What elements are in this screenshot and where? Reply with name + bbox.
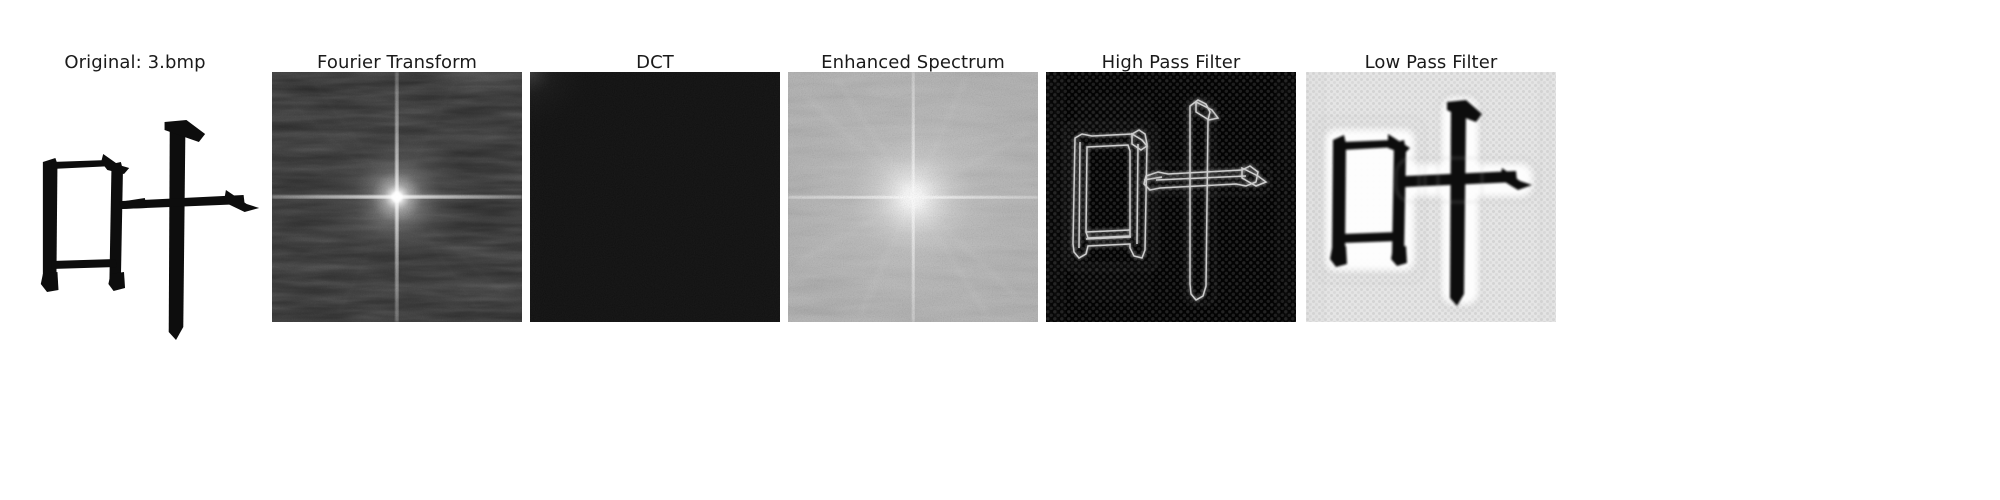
- image-dct: [530, 72, 780, 322]
- panel-title-high-pass-filter: High Pass Filter: [1046, 52, 1296, 73]
- subplot-high-pass-filter: High Pass Filter: [1046, 0, 1314, 500]
- figure-canvas: Original: 3.bmp: [0, 0, 2000, 500]
- image-original: [20, 92, 280, 342]
- panel-title-low-pass-filter: Low Pass Filter: [1306, 52, 1556, 73]
- panel-title-fourier-transform: Fourier Transform: [272, 52, 522, 73]
- subplot-fourier-transform: Fourier Transform: [272, 0, 522, 500]
- image-fourier-transform: [272, 72, 522, 322]
- panel-title-dct: DCT: [530, 52, 780, 73]
- subplot-enhanced-spectrum: Enhanced Spectrum: [788, 0, 1038, 500]
- subplot-low-pass-filter: Low Pass Filter: [1306, 0, 1556, 500]
- image-enhanced-spectrum: [788, 72, 1038, 322]
- subplot-dct: DCT: [530, 0, 780, 500]
- panel-title-original: Original: 3.bmp: [0, 52, 285, 73]
- subplot-original: Original: 3.bmp: [0, 0, 300, 500]
- image-low-pass-filter: [1306, 72, 1556, 322]
- image-high-pass-filter: [1046, 72, 1296, 322]
- panel-title-enhanced-spectrum: Enhanced Spectrum: [788, 52, 1038, 73]
